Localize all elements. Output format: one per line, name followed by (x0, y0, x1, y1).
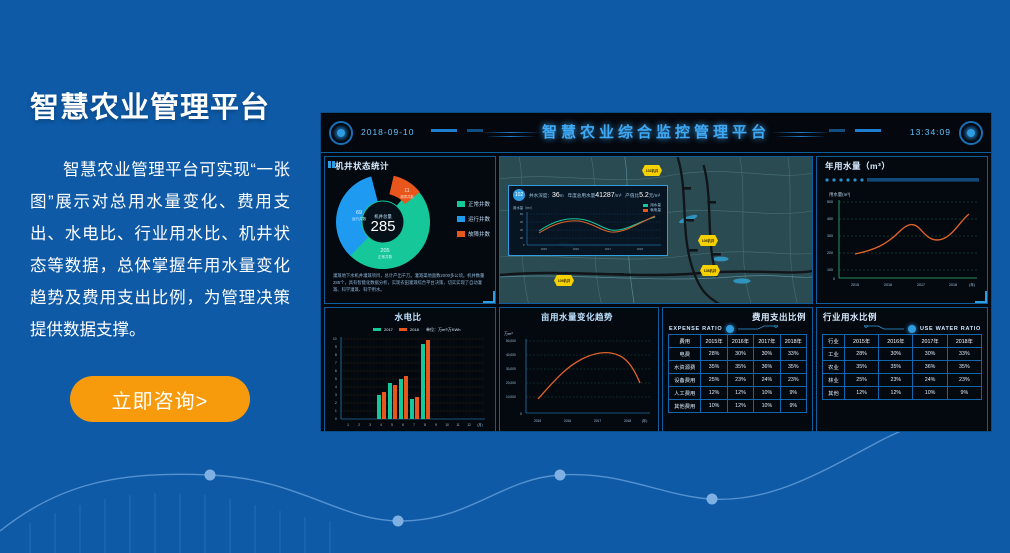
svg-text:5: 5 (391, 423, 393, 427)
svg-text:200: 200 (827, 251, 833, 255)
dashboard-screenshot: 2018-09-10 智慧农业综合监控管理平台 13:34:09 机井状态统计 (320, 112, 992, 432)
svg-text:10: 10 (445, 423, 449, 427)
cell: 30% (913, 348, 947, 361)
svg-text:0: 0 (520, 412, 522, 416)
table-header-row: 费用 2015年 2016年 2017年 2018年 (669, 335, 807, 348)
year-water-line-chart[interactable]: 用水量(m³) 500400300 2001000 20152016 20172… (817, 174, 987, 296)
cell: 工业 (823, 348, 845, 361)
table-row: 林业25%23%24%23% (823, 374, 982, 387)
node-dot-icon (908, 325, 916, 333)
table-row: 其他12%12%10%9% (823, 387, 982, 400)
dashboard-header: 2018-09-10 智慧农业综合监控管理平台 13:34:09 (321, 113, 991, 153)
svg-text:11: 11 (456, 423, 460, 427)
mu-water-trend-chart[interactable]: 万m³ 50,00040,00030,000 20,00010,0000 201… (500, 323, 658, 431)
cell: 9% (780, 387, 806, 400)
panel-mu-water-trend[interactable]: 亩用水量变化趋势 万m³ 50,00040,00030,000 20,00010… (499, 307, 659, 432)
table-row: 农业35%35%36%35% (823, 361, 982, 374)
water-power-legend: 2017 2018 单位：万m³/万KWh (373, 326, 460, 332)
svg-text:2016: 2016 (573, 247, 579, 251)
table-row: 工业28%30%30%33% (823, 348, 982, 361)
map-marker-well-109[interactable]: 109机井 (554, 275, 574, 286)
donut-slice-value-running: 69 (356, 210, 362, 216)
cell: 电费 (669, 348, 701, 361)
circuit-line-decoration (738, 325, 778, 333)
expense-col-4: 2018年 (780, 335, 806, 348)
well-status-note: 灌溉地下水机井灌溉项目，总计产出千万。灌溉渠地面数2000多公顷。机井数量285… (325, 270, 495, 293)
cell: 人工费用 (669, 387, 701, 400)
table-header-row: 行业 2015年 2016年 2017年 2018年 (823, 335, 982, 348)
water-power-bar-chart[interactable]: 2017 2018 单位：万m³/万KWh (325, 323, 495, 431)
svg-text:100: 100 (827, 268, 833, 272)
svg-text:4: 4 (335, 385, 337, 389)
svg-text:(年): (年) (969, 282, 975, 287)
cell: 36% (754, 361, 780, 374)
cell: 30% (754, 348, 780, 361)
svg-text:7: 7 (413, 423, 415, 427)
cell: 25% (844, 374, 878, 387)
circuit-line-decoration (864, 325, 904, 333)
cell: 12% (727, 400, 753, 413)
water-power-unit: 单位：万m³/万KWh (426, 326, 460, 332)
expense-col-1: 2015年 (701, 335, 727, 348)
svg-text:9: 9 (335, 345, 337, 349)
svg-text:2015: 2015 (534, 419, 541, 423)
legend-item-fault: 故障井数 (457, 230, 490, 238)
table-row: 人工费用12%12%10%9% (669, 387, 807, 400)
industry-subtitle: USE WATER RATIO (920, 326, 981, 332)
donut-slice-name-running: 运行井数 (352, 216, 367, 221)
cell: 12% (701, 387, 727, 400)
popup-chart-svg: 用水量（m³） 5040 30200 20152016 (513, 204, 665, 252)
cell: 林业 (823, 374, 845, 387)
svg-text:2: 2 (335, 401, 337, 405)
svg-text:40: 40 (520, 220, 523, 224)
svg-text:1: 1 (335, 409, 337, 413)
panel-title-industry: 行业用水比例 (817, 308, 987, 323)
svg-text:2016: 2016 (564, 419, 571, 423)
cell: 10% (754, 400, 780, 413)
legend-item-normal: 正常井数 (457, 200, 490, 208)
table-row: 水资源费35%35%36%35% (669, 361, 807, 374)
cell: 其他 (823, 387, 845, 400)
svg-text:50: 50 (520, 212, 523, 216)
page-title: 智慧农业管理平台 (30, 84, 290, 126)
expense-subtitle: EXPENSE RATIO (669, 326, 722, 332)
panel-water-power-ratio[interactable]: 水电比 2017 2018 单位：万m³/万KWh (324, 307, 496, 432)
svg-text:0: 0 (833, 277, 835, 281)
industry-col-2: 2016年 (879, 335, 913, 348)
svg-text:2017: 2017 (917, 283, 925, 287)
legend-label-running: 运行井数 (468, 215, 490, 223)
donut-slice-name-fault: 故障井数 (400, 194, 414, 199)
expense-ratio-table[interactable]: 费用 2015年 2016年 2017年 2018年 电费28%30%30%33… (668, 334, 807, 413)
donut-slice-value-fault: 11 (404, 188, 409, 194)
svg-text:300: 300 (827, 234, 833, 238)
cell: 36% (913, 361, 947, 374)
legend-label-fault: 故障井数 (468, 230, 490, 238)
title-bars-icon (328, 161, 335, 168)
svg-text:2018: 2018 (637, 247, 643, 251)
panel-map[interactable]: 102机井 106机井 108机井 109机井 102 井水深度：36m 年度总… (499, 156, 813, 304)
legend-label-2017: 2017 (384, 327, 394, 332)
svg-text:50,000: 50,000 (506, 339, 516, 343)
legend-swatch-fault (457, 231, 465, 237)
cell: 35% (727, 361, 753, 374)
node-dot-icon (726, 325, 734, 333)
industry-col-0: 行业 (823, 335, 845, 348)
table-row: 其他费用10%12%10%9% (669, 400, 807, 413)
legend-label-normal: 正常井数 (468, 200, 490, 208)
cell: 12% (879, 387, 913, 400)
popup-stat-annual: 年度总用水量41287/m³ (568, 192, 622, 199)
cell: 24% (913, 374, 947, 387)
svg-text:5: 5 (335, 377, 337, 381)
svg-text:10,000: 10,000 (506, 395, 516, 399)
legend-swatch-running (457, 216, 465, 222)
svg-text:4: 4 (380, 423, 382, 427)
cell: 33% (780, 348, 806, 361)
popup-badge: 102 (513, 189, 525, 201)
svg-text:2: 2 (358, 423, 360, 427)
cell: 其他费用 (669, 400, 701, 413)
cell: 35% (701, 361, 727, 374)
legend-item-running: 运行井数 (457, 215, 490, 223)
svg-text:2018: 2018 (624, 419, 631, 423)
panel-title-water-power: 水电比 (325, 308, 495, 323)
panel-title-mu-trend: 亩用水量变化趋势 (500, 308, 658, 323)
cell: 33% (947, 348, 981, 361)
well-status-donut-chart[interactable]: 机井总量 285 69 运行井数 205 正常井数 11 故障井数 (325, 174, 495, 270)
svg-text:1: 1 (347, 423, 349, 427)
industry-col-1: 2015年 (844, 335, 878, 348)
consult-button[interactable]: 立即咨询> (70, 376, 250, 422)
svg-text:7: 7 (335, 361, 337, 365)
panel-corner-decoration (483, 291, 495, 303)
industry-col-3: 2017年 (913, 335, 947, 348)
popup-header: 102 井水深度：36m 年度总用水量41287/m³ 产值比5.2元/m³ (509, 186, 667, 204)
legend-swatch-normal (457, 201, 465, 207)
industry-water-ratio-table[interactable]: 行业 2015年 2016年 2017年 2018年 工业28%30%30%33… (822, 334, 982, 400)
panel-well-status[interactable]: 机井状态统计 机井总量 285 69 运行井数 205 (324, 156, 496, 304)
svg-text:3: 3 (369, 423, 371, 427)
svg-text:400: 400 (827, 217, 833, 221)
dashboard-time: 13:34:09 (910, 127, 951, 137)
mu-trend-axis-label: 万m³ (504, 331, 513, 336)
popup-line-chart: 用水量 耗电量 用水量（m³） 5040 (513, 204, 663, 252)
expense-col-2: 2016年 (727, 335, 753, 348)
industry-col-4: 2018年 (947, 335, 981, 348)
industry-subtitle-row: USE WATER RATIO (817, 323, 987, 334)
panel-title-well-status: 机井状态统计 (325, 157, 495, 172)
table-row: 电费28%30%30%33% (669, 348, 807, 361)
cell: 24% (754, 374, 780, 387)
donut-center-value: 285 (370, 218, 395, 235)
promo-panel: 智慧农业管理平台 智慧农业管理平台可实现“一张图”展示对总用水量变化、费用支出、… (0, 0, 320, 553)
promo-description: 智慧农业管理平台可实现“一张图”展示对总用水量变化、费用支出、水电比、行业用水比… (30, 154, 290, 346)
cell: 30% (879, 348, 913, 361)
donut-slice-name-normal: 正常井数 (378, 254, 393, 259)
svg-text:12: 12 (467, 423, 471, 427)
svg-text:20: 20 (520, 236, 523, 240)
panel-year-water[interactable]: 年用水量（m³） 用水量(m³) (816, 156, 988, 304)
donut-slice-value-normal: 205 (380, 248, 389, 254)
legend-label-2018: 2018 (410, 327, 420, 332)
map-marker-well-106[interactable]: 106机井 (698, 235, 718, 246)
svg-text:500: 500 (827, 200, 833, 204)
expense-col-3: 2017年 (754, 335, 780, 348)
svg-text:(年): (年) (642, 418, 647, 423)
cell: 23% (780, 374, 806, 387)
svg-text:6: 6 (335, 369, 337, 373)
cell: 12% (727, 387, 753, 400)
year-water-axis-label: 用水量(m³) (829, 191, 851, 198)
cell: 9% (947, 387, 981, 400)
cell: 35% (844, 361, 878, 374)
cell: 10% (913, 387, 947, 400)
svg-text:2017: 2017 (605, 247, 611, 251)
cell: 30% (727, 348, 753, 361)
popup-stat-output: 产值比5.2元/m³ (625, 192, 660, 199)
cell: 28% (701, 348, 727, 361)
cell: 水资源费 (669, 361, 701, 374)
svg-text:8: 8 (424, 423, 426, 427)
table-row: 设备费用25%23%24%23% (669, 374, 807, 387)
cell: 12% (844, 387, 878, 400)
cell: 10% (701, 400, 727, 413)
cell: 25% (701, 374, 727, 387)
panel-title-expense: 费用支出比例 (663, 308, 812, 323)
svg-text:3: 3 (335, 393, 337, 397)
svg-text:9: 9 (435, 423, 437, 427)
svg-text:30,000: 30,000 (506, 367, 516, 371)
svg-text:2015: 2015 (851, 283, 859, 287)
cell: 23% (947, 374, 981, 387)
popup-stat-depth: 井水深度：36m (529, 192, 564, 199)
expense-subtitle-row: EXPENSE RATIO (663, 323, 812, 334)
cell: 35% (879, 361, 913, 374)
popup-legend-power: 耗电量 (643, 208, 661, 213)
popup-chart-legend: 用水量 耗电量 (643, 203, 661, 213)
svg-text:2017: 2017 (594, 419, 601, 423)
panel-industry-water-ratio[interactable]: 行业用水比例 USE WATER RATIO 行业 2015年 2016年 20… (816, 307, 988, 432)
svg-text:(月): (月) (477, 423, 482, 427)
cell: 23% (727, 374, 753, 387)
svg-text:0: 0 (335, 417, 337, 421)
map-popup-well-detail[interactable]: 102 井水深度：36m 年度总用水量41287/m³ 产值比5.2元/m³ (508, 185, 668, 256)
cell: 35% (947, 361, 981, 374)
map-marker-well-102[interactable]: 102机井 (642, 165, 662, 176)
cell: 10% (754, 387, 780, 400)
svg-text:6: 6 (402, 423, 404, 427)
panel-expense-ratio[interactable]: 费用支出比例 EXPENSE RATIO 费用 2015年 2016年 2017… (662, 307, 813, 432)
cell: 农业 (823, 361, 845, 374)
cell: 35% (780, 361, 806, 374)
well-status-legend: 正常井数 运行井数 故障井数 (457, 200, 490, 245)
svg-text:2018: 2018 (949, 283, 957, 287)
panel-corner-decoration (975, 291, 987, 303)
svg-text:40,000: 40,000 (506, 353, 516, 357)
svg-text:8: 8 (335, 353, 337, 357)
dashboard-title: 智慧农业综合监控管理平台 (321, 121, 991, 142)
cell: 23% (879, 374, 913, 387)
svg-text:20,000: 20,000 (506, 381, 516, 385)
expense-col-0: 费用 (669, 335, 701, 348)
panel-title-year-water: 年用水量（m³） (817, 157, 987, 172)
popup-chart-axis-title: 用水量（m³） (513, 205, 534, 210)
cell: 28% (844, 348, 878, 361)
svg-text:30: 30 (520, 228, 523, 232)
svg-text:2016: 2016 (884, 283, 892, 287)
cell: 9% (780, 400, 806, 413)
svg-text:2015: 2015 (541, 247, 547, 251)
svg-text:0: 0 (523, 243, 525, 247)
svg-text:10: 10 (333, 337, 337, 341)
map-marker-well-108[interactable]: 108机井 (700, 265, 720, 276)
cell: 设备费用 (669, 374, 701, 387)
